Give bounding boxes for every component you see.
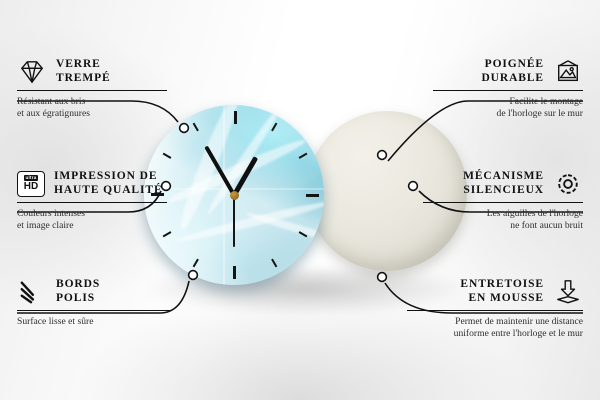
feature-desc-line-2: et aux égratignures	[17, 108, 90, 119]
infographic-canvas: VERRE TREMPÉ Résistant aux bris et aux é…	[0, 0, 600, 400]
feature-mecanisme-silencieux[interactable]: MÉCANISME SILENCIEUX Les aiguilles de l'…	[423, 170, 583, 232]
ultra-hd-bottom-text: HD	[24, 182, 38, 192]
feature-poignee-durable[interactable]: POIGNÉE DURABLE Facilite le montage de l…	[433, 58, 583, 120]
feature-title-line-2: POLIS	[56, 292, 95, 304]
feature-title-line-1: BORDS	[56, 278, 100, 290]
feature-title-line-1: IMPRESSION DE	[54, 170, 157, 182]
feature-desc-line-2: de l'horloge sur le mur	[497, 108, 583, 119]
clock-front-view	[144, 105, 324, 285]
feature-desc-line-2: uniforme entre l'horloge et le mur	[454, 328, 583, 339]
feature-divider	[17, 202, 167, 203]
feature-divider	[17, 310, 172, 311]
feature-title-line-1: ENTRETOISE	[460, 278, 544, 290]
wall-hanging-frame-icon	[553, 59, 583, 85]
clock-tick-major	[234, 105, 236, 195]
gear-icon	[553, 171, 583, 197]
feature-desc-line-1: Couleurs intenses	[17, 208, 85, 219]
clock-tick-major	[235, 194, 324, 196]
feature-title-line-2: DURABLE	[481, 72, 544, 84]
feature-entretoise-en-mousse[interactable]: ENTRETOISE EN MOUSSE Permet de maintenir…	[407, 278, 583, 340]
feature-title-line-2: EN MOUSSE	[468, 292, 544, 304]
clock-center-hub	[230, 191, 239, 200]
feature-bords-polis[interactable]: BORDS POLIS Surface lisse et sûre	[17, 278, 172, 328]
feature-title-line-2: SILENCIEUX	[463, 184, 544, 196]
feature-title-line-2: TREMPÉ	[56, 72, 111, 84]
feature-divider	[423, 202, 583, 203]
feature-desc-line-2: et image claire	[17, 220, 73, 231]
feature-divider	[407, 310, 583, 311]
feature-title-line-1: VERRE	[56, 58, 101, 70]
feature-desc-line-1: Facilite le montage	[509, 96, 583, 107]
feature-verre-trempe[interactable]: VERRE TREMPÉ Résistant aux bris et aux é…	[17, 58, 167, 120]
ultra-hd-badge-icon: ultra HD	[17, 171, 45, 197]
feature-impression-haute-qualite[interactable]: ultra HD IMPRESSION DE HAUTE QUALITÉ Cou…	[17, 170, 167, 232]
feature-desc-line-1: Résistant aux bris	[17, 96, 85, 107]
feature-title-line-1: POIGNÉE	[485, 58, 544, 70]
feature-divider	[17, 90, 167, 91]
diamond-icon	[17, 59, 47, 85]
second-hand	[233, 195, 235, 247]
feature-desc-line-1: Surface lisse et sûre	[17, 316, 93, 327]
foam-spacer-press-icon	[553, 279, 583, 305]
feature-title-line-1: MÉCANISME	[463, 170, 544, 182]
polished-edges-icon	[17, 279, 47, 305]
feature-desc-line-1: Les aiguilles de l'horloge	[487, 208, 583, 219]
feature-title-line-2: HAUTE QUALITÉ	[54, 184, 163, 196]
feature-desc-line-1: Permet de maintenir une distance	[455, 316, 583, 327]
feature-desc-line-2: ne font aucun bruit	[510, 220, 583, 231]
feature-divider	[433, 90, 583, 91]
